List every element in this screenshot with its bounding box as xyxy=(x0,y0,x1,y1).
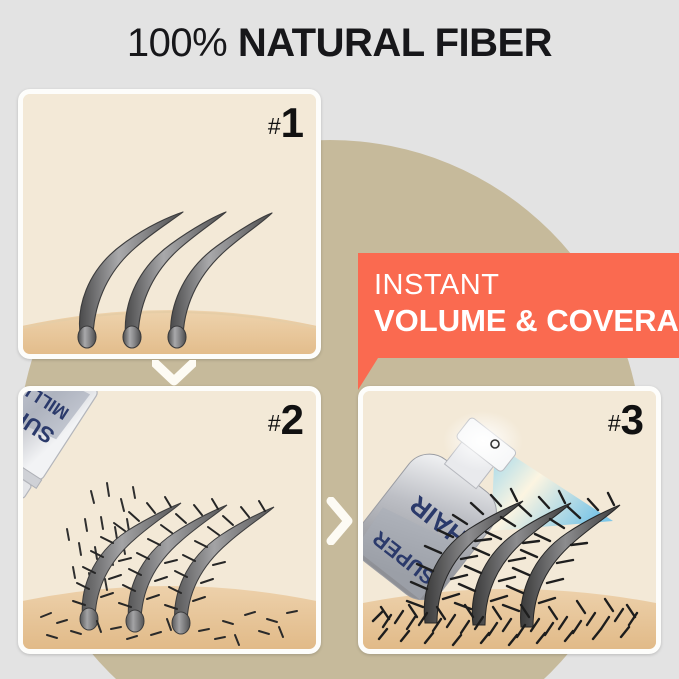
infographic-canvas: 100% NATURAL FIBER xyxy=(0,0,679,679)
step-panel-2: SUPER MILLION xyxy=(18,386,321,654)
panel-3-number-badge: #3 xyxy=(608,399,644,441)
panel-1-number-badge: #1 xyxy=(268,102,304,144)
page-title: 100% NATURAL FIBER xyxy=(0,20,679,66)
promo-banner-text: INSTANT VOLUME & COVERAGE xyxy=(374,268,679,340)
promo-line-instant: INSTANT xyxy=(374,268,679,302)
arrow-step-2-to-3-icon xyxy=(325,497,353,545)
panel-3-number: 3 xyxy=(621,396,644,443)
promo-banner-tail xyxy=(358,358,378,390)
panel-2-number: 2 xyxy=(281,396,304,443)
step-panel-3: SUPER HAIR xyxy=(358,386,661,654)
title-light-part: 100% xyxy=(127,21,227,65)
step-panel-1: #1 xyxy=(18,89,321,359)
arrow-step-1-to-2-icon xyxy=(152,360,196,386)
promo-line-volume-coverage: VOLUME & COVERAGE xyxy=(374,302,679,340)
panel-2-hash: # xyxy=(268,410,281,436)
panel-1-number: 1 xyxy=(281,99,304,146)
panel-3-hash: # xyxy=(608,410,621,436)
panel-2-number-badge: #2 xyxy=(268,399,304,441)
title-bold-part: NATURAL FIBER xyxy=(238,21,552,65)
nozzle-orifice xyxy=(491,440,499,448)
promo-banner: INSTANT VOLUME & COVERAGE xyxy=(358,253,679,358)
panel-1-hash: # xyxy=(268,113,281,139)
nozzle-glow xyxy=(443,411,523,471)
